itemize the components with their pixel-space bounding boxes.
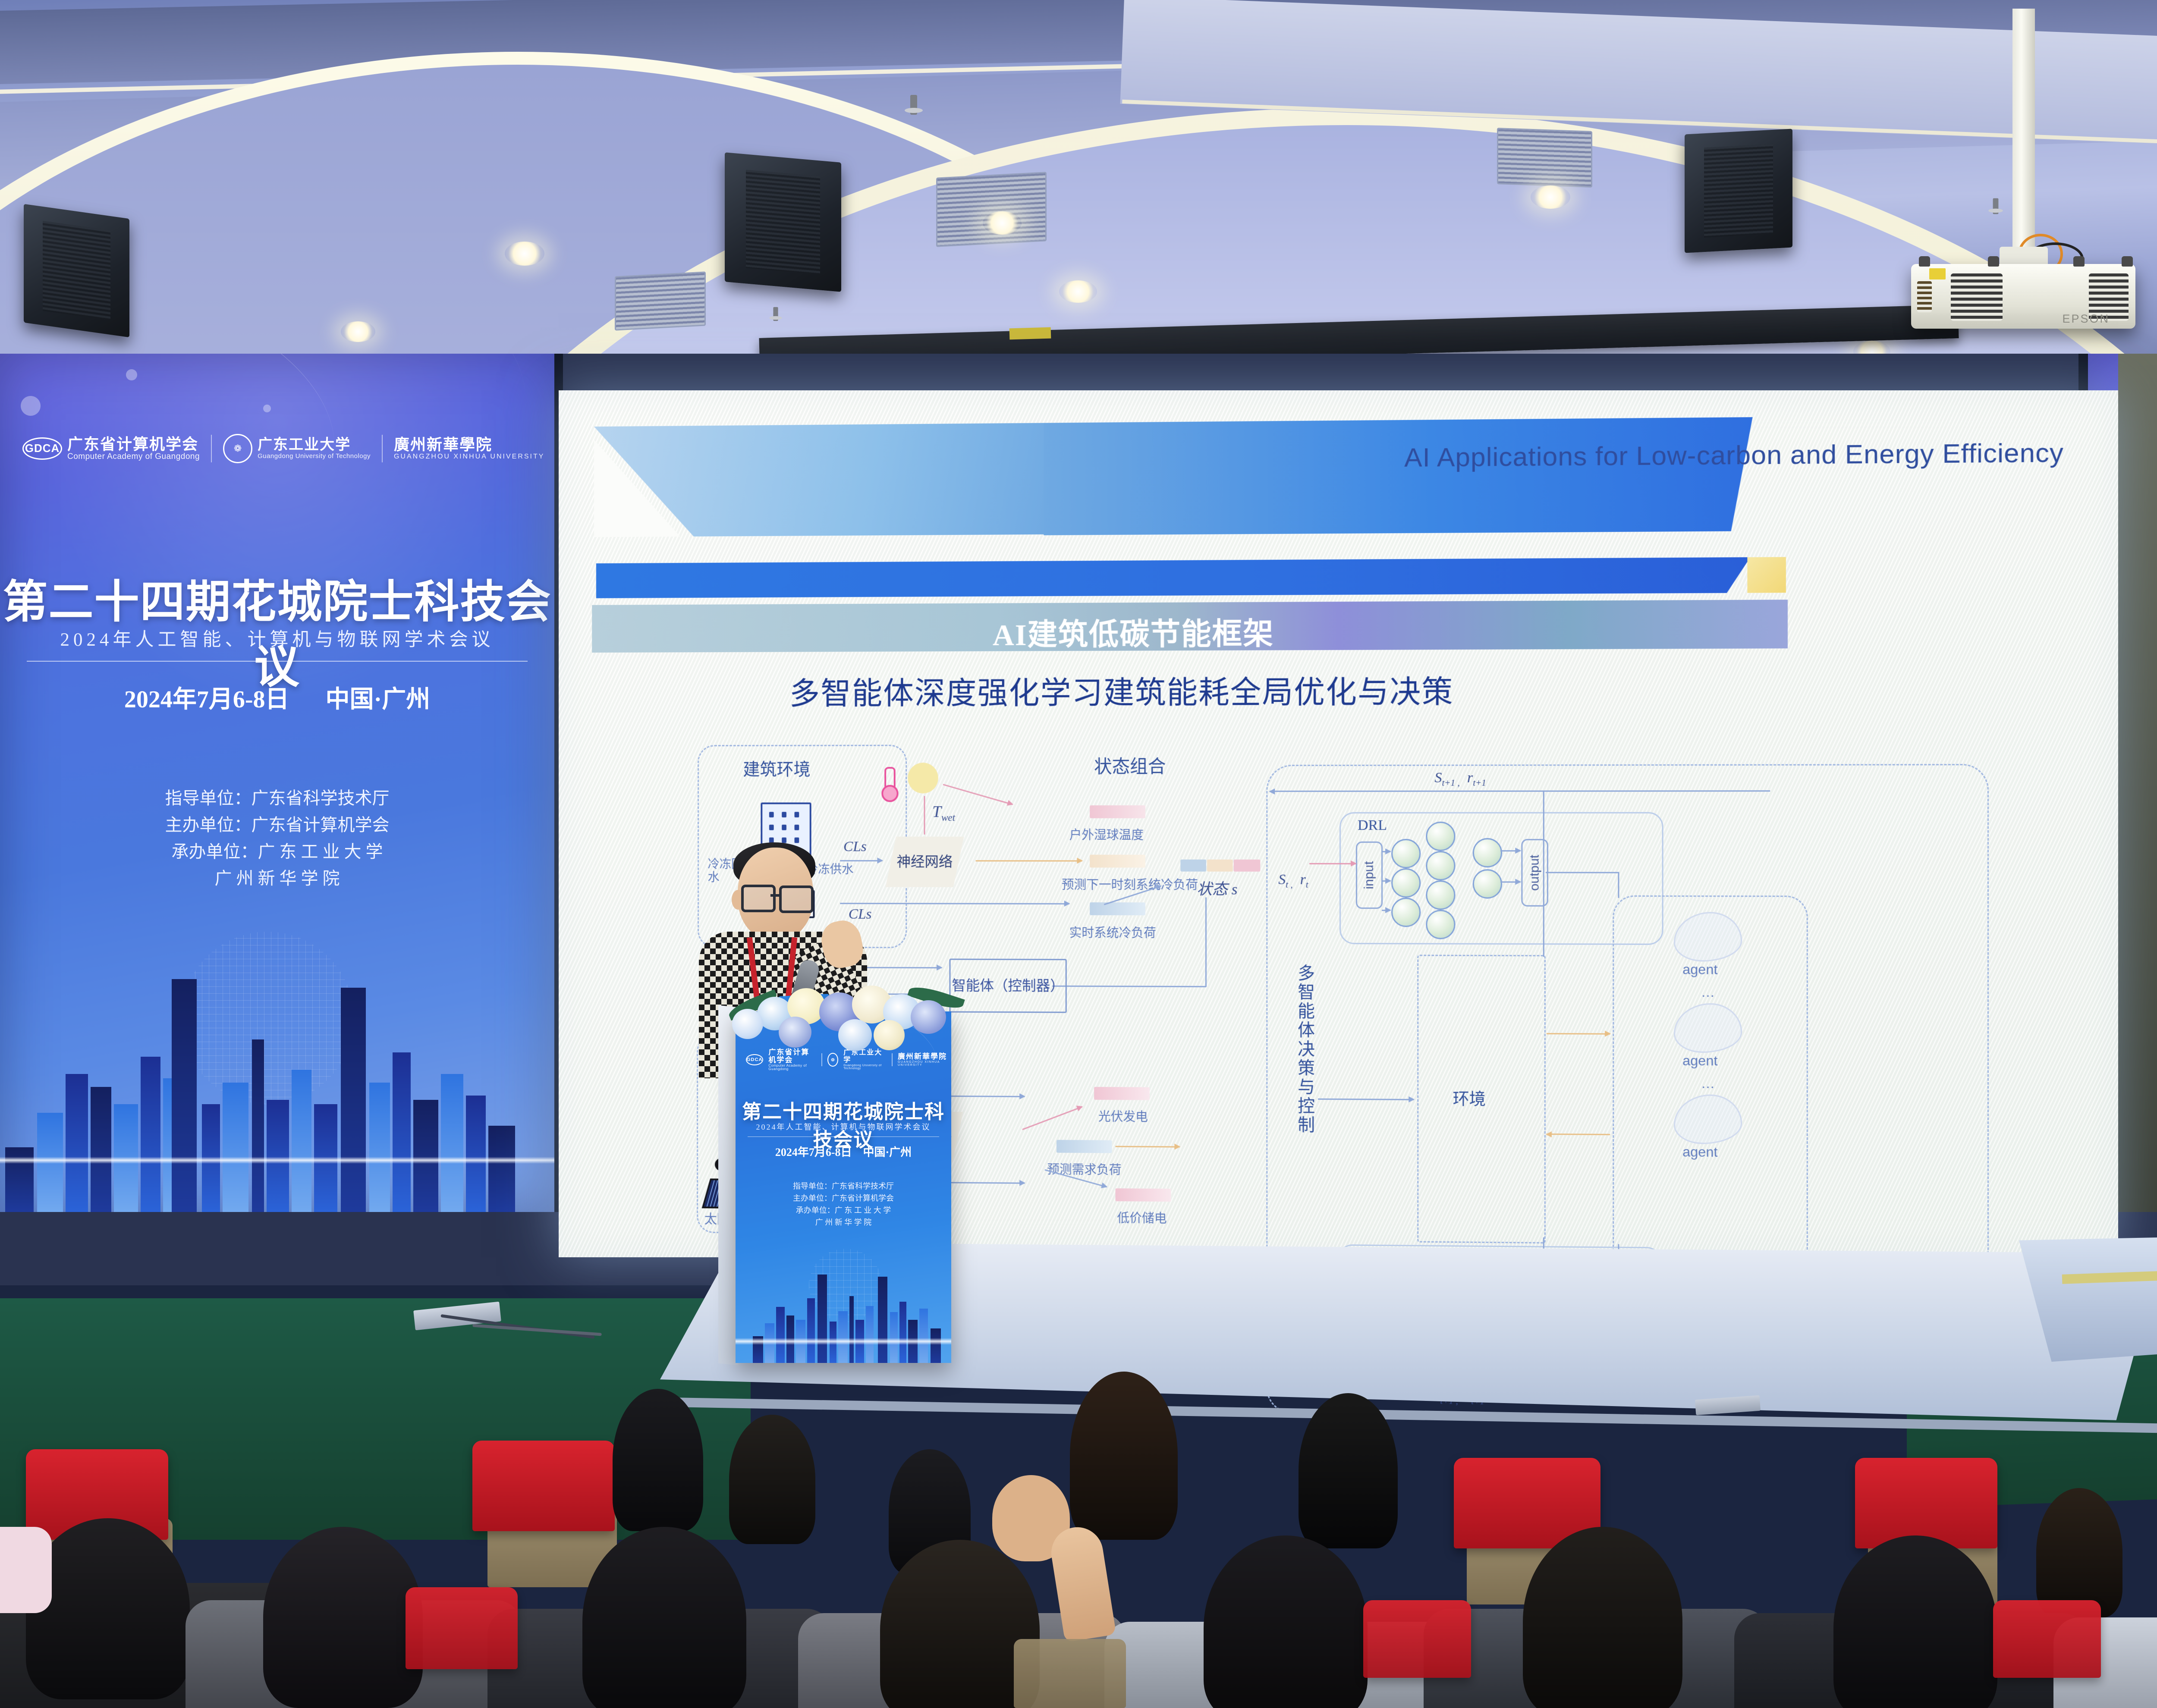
gdut-name-cn: 广东工业大学 [258,437,371,453]
chip-low-price-storage [1116,1188,1171,1202]
podium-logo-row: GDCA 广东省计算机学会 Computer Academy of Guangd… [746,1049,951,1071]
header-accent-bar [596,557,1751,598]
truss-warning-label [1009,327,1051,340]
gdca-name-cn: 广东省计算机学会 [768,1049,816,1064]
gdut-seal-icon: ❁ [223,434,252,463]
header-shape-right [1044,417,1752,535]
banner-date: 2024年7月6-8日 [124,686,289,713]
projector-sticker [1929,268,1946,279]
label-multi-agent: 多智能体决策与控制 [1292,964,1317,1135]
sprinkler-head [773,307,778,321]
organizer-line: 广 州 新 华 学 院 [0,865,554,892]
organizer-line: 指导单位：广东省科学技术厅 [736,1181,951,1193]
chip-predicted-demand [1056,1140,1112,1153]
chip-realtime-load [1090,902,1145,915]
audience-head [729,1415,815,1544]
gxu-name-en: GUANGZHOU XINHUA UNIVERSITY [898,1061,951,1067]
hvac-vent [936,172,1047,247]
downlight [505,242,544,266]
gdca-name-en: Computer Academy of Guangdong [67,452,200,461]
organizer-line: 广 州 新 华 学 院 [736,1217,951,1229]
podium-front-panel: GDCA 广东省计算机学会 Computer Academy of Guangd… [736,1011,951,1363]
podium-location: 中国·广州 [863,1146,912,1159]
gxu-name-cn: 廣州新華學院 [394,437,544,453]
section-tag-title: AI建筑低碳节能框架 [993,610,1274,654]
audience-head-front [263,1527,423,1708]
label-predicted-demand: 预测需求负荷 [1047,1159,1121,1178]
agent-ellipsis-2: … [1701,1075,1715,1091]
ceiling-projector: EPSON [1911,242,2135,332]
logo-gxu: 廣州新華學院 GUANGZHOU XINHUA UNIVERSITY [898,1053,951,1067]
projector-brand-label: EPSON [2062,312,2110,326]
label-state-s: 状态 s [1197,877,1238,899]
projector-filter [1917,281,1932,312]
projector-mount-pole [2012,9,2035,267]
audience-head [1299,1393,1398,1548]
projector-vent-grill [1951,273,2003,321]
label-environment: 环境 [1453,1085,1486,1109]
downlight [1531,185,1570,209]
seat-back [1363,1600,1471,1678]
sprinkler-head [910,95,917,115]
gdca-mark: GDCA [22,437,62,460]
auditorium-ceiling: EPSON [0,0,2157,380]
audience-head [1070,1372,1178,1540]
downlight [341,321,375,342]
label-drl-upper: DRL [1358,817,1387,834]
label-building-environment: 建筑环境 [743,756,810,781]
logo-gdut: ❁ 广东工业大学 Guangdong University of Technol… [827,1049,887,1070]
gdca-mark: GDCA [746,1054,763,1065]
audience-seating [0,1397,2157,1708]
arrow-state-in-upper [1309,863,1356,864]
audience-head-front [582,1527,746,1708]
organizer-line: 主办单位：广东省计算机学会 [736,1193,951,1205]
label-outdoor-wet-bulb: 户外湿球温度 [1069,825,1144,843]
gdut-seal-icon: ❁ [827,1053,838,1067]
guangzhou-skyline-left [0,936,554,1212]
seat-base [1014,1639,1126,1708]
gdca-name-en: Computer Academy of Guangdong [768,1064,816,1071]
gxu-name-en: GUANGZHOU XINHUA UNIVERSITY [394,453,544,461]
gdut-name-en: Guangdong University of Technology [258,453,371,460]
chip-pv-generation [1094,1087,1150,1100]
conference-photo: EPSON GDCA 广东省计算机学会 Computer Academy of … [0,0,2157,1708]
label-pv-generation: 光伏发电 [1098,1107,1148,1125]
formula-st1-rt1-top: St+1 , rt+1 [1434,770,1486,788]
thermometer-icon [884,767,896,794]
audience-hat [0,1527,52,1613]
label-agent-2: agent [1682,1053,1717,1069]
label-state-combination: 状态组合 [1094,752,1166,779]
flow-twet [924,796,925,835]
hvac-vent [615,271,706,330]
podium-subtitle: 2024年人工智能、计算机与物联网学术会议 [736,1121,951,1132]
state-chip-b [1207,860,1233,872]
gdca-name-cn: 广东省计算机学会 [67,436,200,452]
conference-banner-left: GDCA 广东省计算机学会 Computer Academy of Guangd… [0,354,554,1212]
logo-gxu: 廣州新華學院 GUANGZHOU XINHUA UNIVERSITY [394,437,544,461]
projector-body: EPSON [1911,264,2135,329]
slide-subtitle: 多智能体深度强化学习建筑能耗全局优化与决策 [789,666,1454,713]
banner-logo-row: GDCA 广东省计算机学会 Computer Academy of Guangd… [22,434,544,463]
state-to-agent-bar [1052,986,1206,987]
downlight [1059,280,1097,303]
ceiling-speaker [1685,129,1792,253]
label-agent-1: agent [1682,961,1717,978]
agent-ellipsis-1: … [1701,984,1715,1000]
formula-st-rt-upper: St , rt [1278,872,1308,890]
logo-gdca: GDCA 广东省计算机学会 Computer Academy of Guangd… [746,1049,816,1071]
chip-wet-bulb [1090,805,1145,818]
label-predicted-next-load: 预测下一时刻系统冷负荷 [1062,875,1198,893]
sprinkler-head [1993,198,1999,214]
gdut-name-en: Guangdong University of Technology [843,1064,887,1071]
banner-organizers: 指导单位：广东省科学技术厅 主办单位：广东省计算机学会 承办单位：广 东 工 业… [0,785,554,892]
banner-location: 中国·广州 [325,686,430,713]
flower-arrangement [723,972,964,1049]
arrow-demand-right [1116,1146,1180,1148]
state-down-bar [1205,898,1207,987]
banner-subtitle: 2024年人工智能、计算机与物联网学术会议 [0,625,554,651]
seat-back [1993,1600,2101,1678]
podium-skyline [736,1251,951,1363]
banner-date-location: 2024年7月6-8日 中国·广州 [0,680,554,715]
seat-back [472,1441,615,1531]
organizer-line: 承办单位：广 东 工 业 大 学 [0,838,554,865]
sun-icon [908,763,938,793]
organizer-line: 承办单位：广 东 工 业 大 学 [736,1205,951,1217]
label-realtime-load: 实时系统冷负荷 [1069,923,1156,941]
header-accent-yellow [1747,557,1786,593]
seat-back [406,1587,518,1669]
state-chip-a [1180,860,1206,872]
audience-head [2036,1488,2122,1617]
logo-gdca: GDCA 广东省计算机学会 Computer Academy of Guangd… [22,436,200,461]
state-chip-c [1234,860,1261,872]
arrow-feedback-top [1270,791,1314,792]
arrow-to-wetbulb [943,784,1013,805]
hvac-vent [1497,128,1592,188]
audience-head [613,1389,703,1531]
speaker-podium: GDCA 广东省计算机学会 Computer Academy of Guangd… [718,968,968,1363]
organizer-line: 指导单位：广东省科学技术厅 [0,785,554,812]
label-agent-3: agent [1682,1144,1717,1160]
arrow-env-to-agent [1547,1033,1610,1035]
audience-head-front [1204,1535,1368,1708]
label-low-price-storage: 低价储电 [1117,1208,1167,1227]
arrow-to-pv [1022,1106,1082,1130]
logo-gdut: ❁ 广东工业大学 Guangdong University of Technol… [223,434,371,463]
chip-predicted-load [1090,855,1145,868]
arrow-to-predicted [976,860,1082,861]
podium-date: 2024年7月6-8日 [775,1146,852,1159]
slide-header-english: AI Applications for Low-carbon and Energ… [1404,437,2064,473]
gxu-name-cn: 廣州新華學院 [898,1053,951,1061]
audience-head-front [1523,1527,1682,1708]
seat-back [1855,1458,1997,1548]
drl-input-upper: input [1356,841,1383,909]
downlight [983,211,1022,235]
podium-date-location: 2024年7月6-8日 中国·广州 [736,1143,951,1159]
organizer-line: 主办单位：广东省计算机学会 [0,812,554,838]
gdut-name-cn: 广东工业大学 [843,1049,887,1064]
ceiling-speaker [725,152,841,292]
formula-t-wet: Twet [932,802,955,823]
ceiling-speaker [24,204,129,337]
podium-organizers: 指导单位：广东省科学技术厅 主办单位：广东省计算机学会 承办单位：广 东 工 业… [736,1181,951,1229]
